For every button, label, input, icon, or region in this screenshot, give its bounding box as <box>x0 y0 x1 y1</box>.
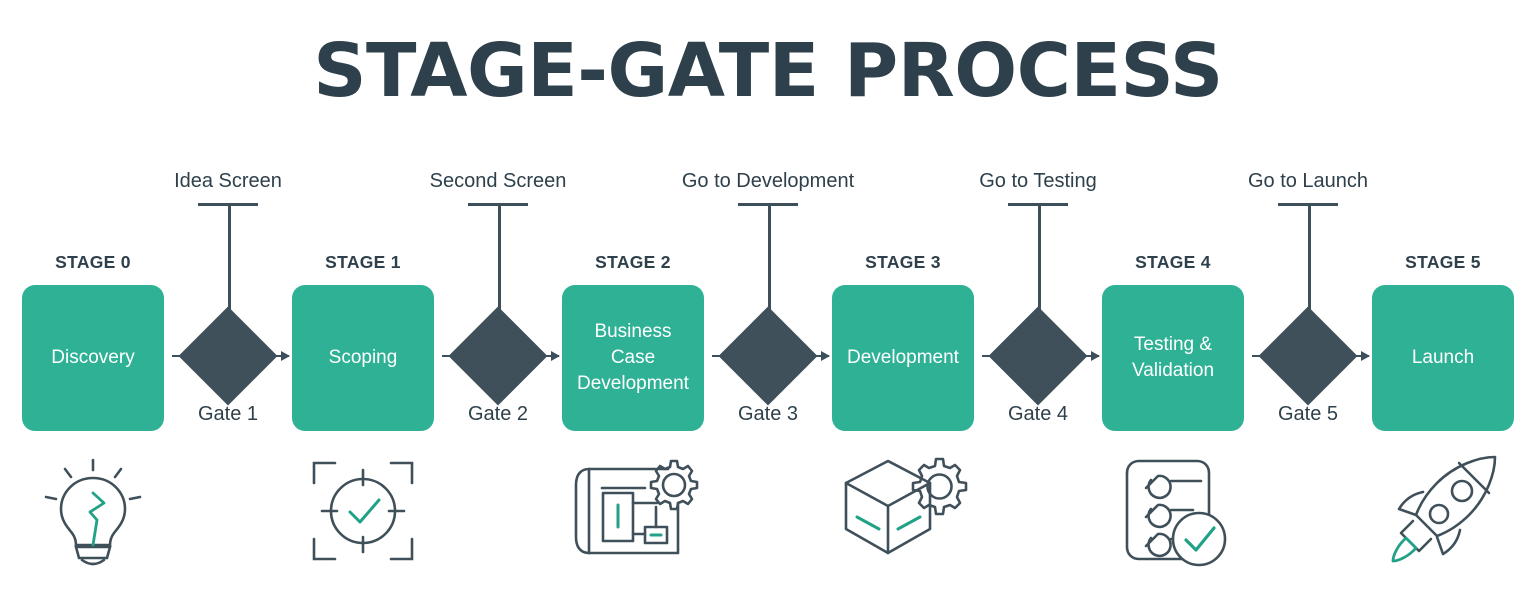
gate-decision-label-5: Go to Launch <box>1188 170 1428 193</box>
icon-slot-0 <box>22 443 164 578</box>
gate-name-5: Gate 5 <box>1233 403 1383 426</box>
gate-name-1: Gate 1 <box>153 403 303 426</box>
stage-name-2: Business Case Development <box>571 319 695 398</box>
stage-name-3: Development <box>841 345 965 371</box>
gate-decision-label-4: Go to Testing <box>918 170 1158 193</box>
checklist-check-icon <box>1113 451 1233 571</box>
stage-number-4: STAGE 4 <box>1102 252 1244 273</box>
rocket-icon <box>1379 451 1507 571</box>
gate-diamond-3[interactable] <box>719 307 818 406</box>
page-title: STAGE-GATE PROCESS <box>0 34 1536 108</box>
stage-number-0: STAGE 0 <box>22 252 164 273</box>
stage-box-0[interactable]: Discovery <box>22 285 164 431</box>
stage-box-5[interactable]: Launch <box>1372 285 1514 431</box>
stage-box-3[interactable]: Development <box>832 285 974 431</box>
connector-stem-4 <box>1038 203 1041 321</box>
stage-name-5: Launch <box>1406 345 1480 371</box>
icon-slot-3 <box>832 443 974 578</box>
stage-box-4[interactable]: Testing & Validation <box>1102 285 1244 431</box>
box-gear-icon <box>836 451 970 571</box>
stage-number-3: STAGE 3 <box>832 252 974 273</box>
stage-name-4: Testing & Validation <box>1126 332 1220 384</box>
gate-diamond-1[interactable] <box>179 307 278 406</box>
icon-slot-4 <box>1102 443 1244 578</box>
gate-diamond-5[interactable] <box>1259 307 1358 406</box>
gate-diamond-2[interactable] <box>449 307 548 406</box>
stage-box-1[interactable]: Scoping <box>292 285 434 431</box>
connector-stem-5 <box>1308 203 1311 321</box>
gate-decision-label-3: Go to Development <box>648 170 888 193</box>
target-scope-icon <box>302 451 424 571</box>
stage-icons-row <box>0 443 1536 583</box>
gate-diamond-4[interactable] <box>989 307 1088 406</box>
icon-slot-1 <box>292 443 434 578</box>
stage-name-1: Scoping <box>323 345 404 371</box>
gate-name-2: Gate 2 <box>423 403 573 426</box>
process-flow: STAGE 0 Discovery Idea Screen Gate 1 STA… <box>0 170 1536 450</box>
stage-number-2: STAGE 2 <box>562 252 704 273</box>
gate-name-4: Gate 4 <box>963 403 1113 426</box>
icon-slot-5 <box>1372 443 1514 578</box>
connector-stem-1 <box>228 203 231 321</box>
gate-decision-label-1: Idea Screen <box>108 170 348 193</box>
connector-stem-2 <box>498 203 501 321</box>
gate-name-3: Gate 3 <box>693 403 843 426</box>
arrow-gate3-stage3 <box>807 355 829 357</box>
blueprint-gear-icon <box>567 451 699 571</box>
stage-name-0: Discovery <box>45 345 140 371</box>
stage-number-5: STAGE 5 <box>1372 252 1514 273</box>
icon-slot-2 <box>562 443 704 578</box>
stage-box-2[interactable]: Business Case Development <box>562 285 704 431</box>
stage-number-1: STAGE 1 <box>292 252 434 273</box>
arrow-gate2-stage2 <box>537 355 559 357</box>
stage-gate-diagram: STAGE-GATE PROCESS STAGE 0 Discovery Ide… <box>0 0 1536 614</box>
arrow-gate5-stage5 <box>1347 355 1369 357</box>
connector-stem-3 <box>768 203 771 321</box>
lightbulb-icon <box>34 450 152 572</box>
arrow-gate1-stage1 <box>267 355 289 357</box>
arrow-gate4-stage4 <box>1077 355 1099 357</box>
gate-decision-label-2: Second Screen <box>378 170 618 193</box>
